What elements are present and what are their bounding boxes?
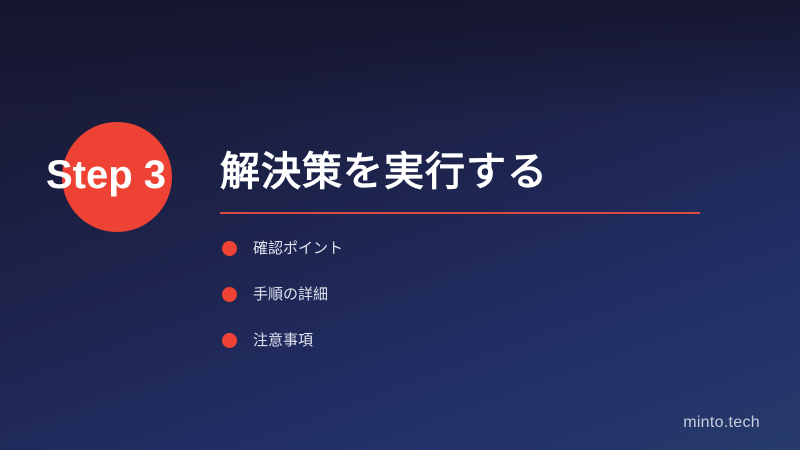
list-item-label: 手順の詳細 <box>253 280 328 309</box>
bullet-list: 確認ポイント 手順の詳細 注意事項 <box>220 234 690 372</box>
slide-title: 解決策を実行する <box>220 146 548 198</box>
footer-brand: minto.tech <box>683 414 760 432</box>
bullet-dot-icon <box>222 241 237 256</box>
bullet-dot-icon <box>222 333 237 348</box>
list-item-label: 確認ポイント <box>253 234 343 263</box>
title-underline-divider <box>220 212 700 214</box>
list-item-label: 注意事項 <box>253 326 313 355</box>
list-item: 注意事項 <box>220 326 690 372</box>
list-item: 確認ポイント <box>220 234 690 280</box>
bullet-dot-icon <box>222 287 237 302</box>
step-badge-label: Step 3 <box>46 152 206 198</box>
presentation-slide: Step 3 解決策を実行する 確認ポイント 手順の詳細 注意事項 minto.… <box>0 0 800 450</box>
list-item: 手順の詳細 <box>220 280 690 326</box>
